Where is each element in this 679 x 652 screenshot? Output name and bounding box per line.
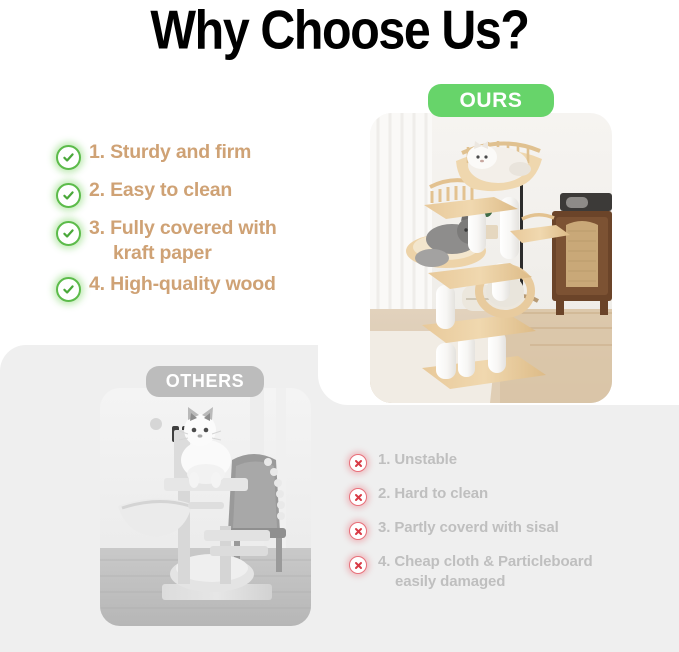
x-circle-icon xyxy=(346,451,372,477)
cons-list-item-label: 1. Unstable xyxy=(378,450,457,470)
ours-product-image xyxy=(370,113,612,403)
cons-list-item: 4. Cheap cloth & Particleboardeasily dam… xyxy=(346,552,656,592)
pros-list-item-label: 2. Easy to clean xyxy=(89,178,232,203)
pros-list-item-label: 3. Fully covered withkraft paper xyxy=(89,216,277,265)
pros-list-item: 2. Easy to clean xyxy=(52,178,372,209)
others-scene xyxy=(100,388,311,626)
cons-list: 1. Unstable 2. Hard to clean 3. Partly c… xyxy=(346,450,656,599)
x-circle-icon xyxy=(346,485,372,511)
cons-list-item-label: 3. Partly coverd with sisal xyxy=(378,518,559,538)
check-circle-icon xyxy=(52,179,82,209)
pros-list-item-label: 4. High-quality wood xyxy=(89,272,276,297)
pros-list-item: 3. Fully covered withkraft paper xyxy=(52,216,372,265)
cons-list-item-label: 4. Cheap cloth & Particleboardeasily dam… xyxy=(378,552,593,592)
cons-list-item: 3. Partly coverd with sisal xyxy=(346,518,656,545)
x-circle-icon xyxy=(346,553,372,579)
others-badge: OTHERS xyxy=(146,366,264,397)
pros-list: 1. Sturdy and firm 2. Easy to clean 3. F… xyxy=(52,140,372,310)
others-product-image xyxy=(100,388,311,626)
page-title: Why Choose Us? xyxy=(24,2,655,60)
check-circle-icon xyxy=(52,273,82,303)
x-circle-icon xyxy=(346,519,372,545)
pros-list-item: 1. Sturdy and firm xyxy=(52,140,372,171)
pros-list-item: 4. High-quality wood xyxy=(52,272,372,303)
cons-list-item-label: 2. Hard to clean xyxy=(378,484,488,504)
check-circle-icon xyxy=(52,217,82,247)
check-circle-icon xyxy=(52,141,82,171)
cons-list-item: 2. Hard to clean xyxy=(346,484,656,511)
cons-list-item: 1. Unstable xyxy=(346,450,656,477)
ours-scene xyxy=(370,113,612,403)
ours-badge: OURS xyxy=(428,84,554,117)
pros-list-item-label: 1. Sturdy and firm xyxy=(89,140,251,165)
